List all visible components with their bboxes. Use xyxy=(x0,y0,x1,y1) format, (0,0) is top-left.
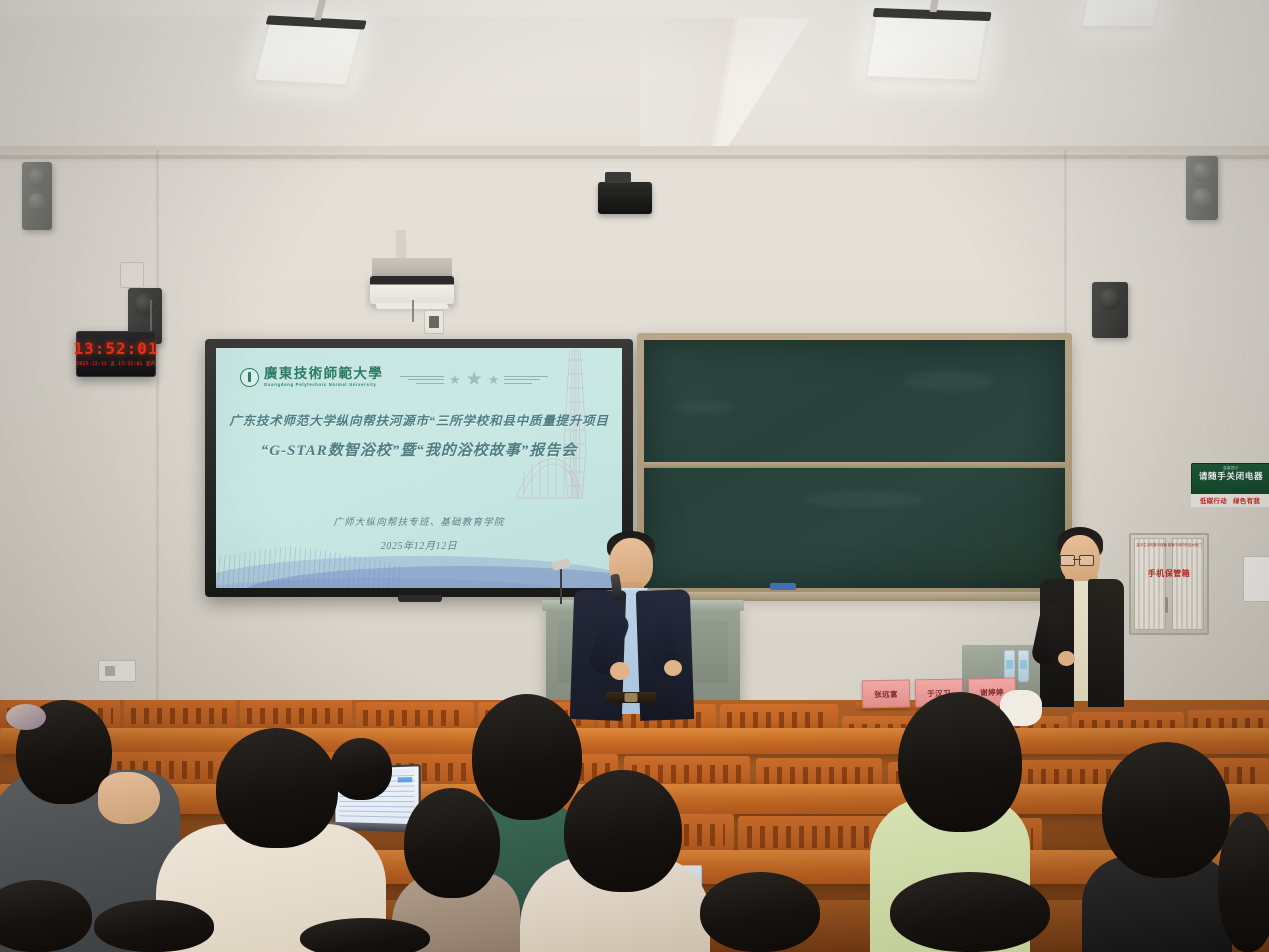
wall-speaker-upper-right xyxy=(1186,156,1218,220)
audience-head xyxy=(564,770,682,892)
bench-desk-row1 xyxy=(0,728,1269,754)
audience-head xyxy=(890,872,1050,952)
audience-head xyxy=(700,872,820,952)
star-icon-1: ★ xyxy=(449,373,461,386)
presenter-hand-left xyxy=(610,662,630,680)
name-card-label: 谢婷婷 xyxy=(980,686,1004,697)
sign-top-text: 温馨提示 xyxy=(1192,464,1269,471)
audience-head xyxy=(216,728,338,848)
ceiling-soffit xyxy=(0,18,720,146)
cabinet-top-text: 高中生手机集中保管 保管中请勿开启大柜门 xyxy=(1136,543,1201,548)
slide-title-line1: 广东技术师范大学纵向帮扶河源市“三所学校和县中质量提升项目 xyxy=(216,410,622,429)
hair-scrunchie xyxy=(6,704,46,730)
projector-cable xyxy=(412,300,414,322)
slide-title: 广东技术师范大学纵向帮扶河源市“三所学校和县中质量提升项目 “G-STAR数智浴… xyxy=(216,410,622,460)
slide-star-divider: ★ ★ ★ xyxy=(400,370,548,389)
chalk-eraser xyxy=(770,583,796,590)
green-chalkboard xyxy=(637,333,1072,595)
ceiling-light-panel-2 xyxy=(867,14,986,80)
audience-head xyxy=(404,788,500,898)
clock-time: 13:52:01 xyxy=(73,341,158,357)
audience-head xyxy=(94,900,214,952)
logo-name-cn: 廣東技術師範大學 xyxy=(264,367,383,381)
cabinet-label: 手机保管箱 xyxy=(1148,568,1191,579)
cabinet-door-right[interactable] xyxy=(1172,538,1204,630)
wall-band xyxy=(0,146,1269,162)
sign-slogan-left: 低碳行动 xyxy=(1200,496,1227,505)
divider-rules-left xyxy=(400,376,444,384)
presentation-slide: 廣東技術師範大學 Guangdong Polytechnic Normal Un… xyxy=(216,348,622,588)
bench-backrest xyxy=(240,700,352,730)
audience-head xyxy=(1102,742,1230,878)
star-icon-3: ★ xyxy=(488,373,500,386)
wall-speaker-right xyxy=(1092,282,1128,338)
star-icon-2: ★ xyxy=(466,370,483,389)
divider-rules-right xyxy=(504,376,548,384)
cabinet-handle[interactable] xyxy=(1165,597,1168,613)
clock-date: 2025-12-12 五 13:52:01 室内 xyxy=(76,361,155,367)
presenter-hand-right xyxy=(664,660,682,676)
screen-stand xyxy=(398,595,442,602)
water-bottle-2 xyxy=(1018,650,1029,682)
logo-name-en: Guangdong Polytechnic Normal University xyxy=(264,383,383,387)
name-card-label: 张远富 xyxy=(874,688,898,699)
assistant-hand xyxy=(1058,651,1075,666)
sign-main-text: 请随手关闭电器 xyxy=(1192,472,1269,481)
ceiling-light-panel-3 xyxy=(1082,0,1158,26)
assistant-standing xyxy=(1032,515,1142,710)
sign-slogan-right: 绿色有我 xyxy=(1233,496,1260,505)
audience-head xyxy=(472,694,582,820)
audience-head xyxy=(300,918,430,952)
audience-head xyxy=(330,738,392,800)
wall-speaker-upper-left xyxy=(22,162,52,230)
podium-mic-stand xyxy=(560,568,562,604)
energy-saving-sign: 温馨提示 请随手关闭电器 xyxy=(1191,463,1269,495)
ceiling-light-panel-1 xyxy=(255,22,361,85)
audience-arm xyxy=(98,772,160,824)
audience-head xyxy=(898,692,1022,832)
university-logo: 廣東技術師範大學 Guangdong Polytechnic Normal Un… xyxy=(240,367,383,387)
wall-plate xyxy=(120,262,144,288)
chalkboard-surface xyxy=(644,340,1065,588)
wall-seam-left xyxy=(156,150,159,710)
bench-backrest xyxy=(124,700,236,730)
lecture-hall-photo: 13:52:01 2025-12-12 五 13:52:01 室内 xyxy=(0,0,1269,952)
presenter-speaker xyxy=(566,520,696,720)
led-wall-clock: 13:52:01 2025-12-12 五 13:52:01 室内 xyxy=(76,331,156,377)
wall-conduit xyxy=(0,155,1269,159)
university-emblem-icon xyxy=(240,368,259,387)
wall-outlet-projector xyxy=(424,310,444,334)
slide-title-line2: “G-STAR数智浴校”暨“我的浴校故事”报告会 xyxy=(216,439,622,460)
side-whiteboard xyxy=(1243,556,1269,602)
wall-outlet-left xyxy=(98,660,136,682)
ceiling-camera-box xyxy=(598,182,652,214)
clock-cable xyxy=(150,300,152,334)
name-card: 张远富 xyxy=(862,680,910,709)
glasses-icon xyxy=(1060,555,1094,564)
assistant-jacket-right xyxy=(1088,579,1124,707)
sign-slogan-bar: 低碳行动 绿色有我 xyxy=(1191,494,1269,507)
